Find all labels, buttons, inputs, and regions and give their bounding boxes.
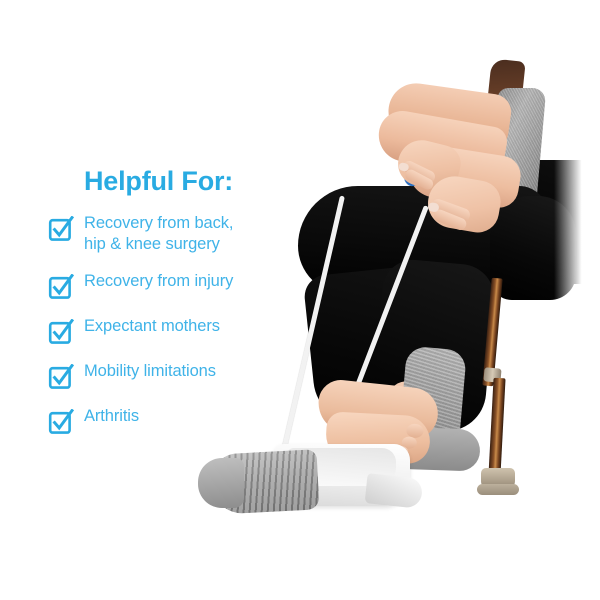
sock-aid-tip (365, 473, 424, 509)
list-item: Recovery from injury (48, 271, 298, 305)
list-item: Arthritis (48, 406, 298, 440)
photo-fade-right (554, 0, 600, 600)
cane-tip-base (477, 484, 519, 495)
checkbox-checked-icon (48, 319, 74, 345)
list-item: Mobility limitations (48, 361, 298, 395)
benefits-list: Recovery from back,hip & knee surgery Re… (48, 213, 298, 451)
text-panel: Helpful For: Recovery from back,hip & kn… (0, 0, 300, 600)
list-item-label: Recovery from injury (84, 271, 298, 292)
list-item-label: Mobility limitations (84, 361, 298, 382)
list-item-label: Recovery from back,hip & knee surgery (84, 213, 298, 255)
product-graphic-canvas: Helpful For: Recovery from back,hip & kn… (0, 0, 600, 600)
checkbox-checked-icon (48, 364, 74, 390)
checkbox-checked-icon (48, 409, 74, 435)
list-item: Recovery from back,hip & knee surgery (48, 213, 298, 259)
panel-heading: Helpful For: (84, 166, 233, 197)
list-item: Expectant mothers (48, 316, 298, 350)
checkbox-checked-icon (48, 216, 74, 242)
cane-lower-shaft (488, 378, 505, 476)
list-item-label: Expectant mothers (84, 316, 298, 337)
checkbox-checked-icon (48, 274, 74, 300)
list-item-label: Arthritis (84, 406, 298, 427)
